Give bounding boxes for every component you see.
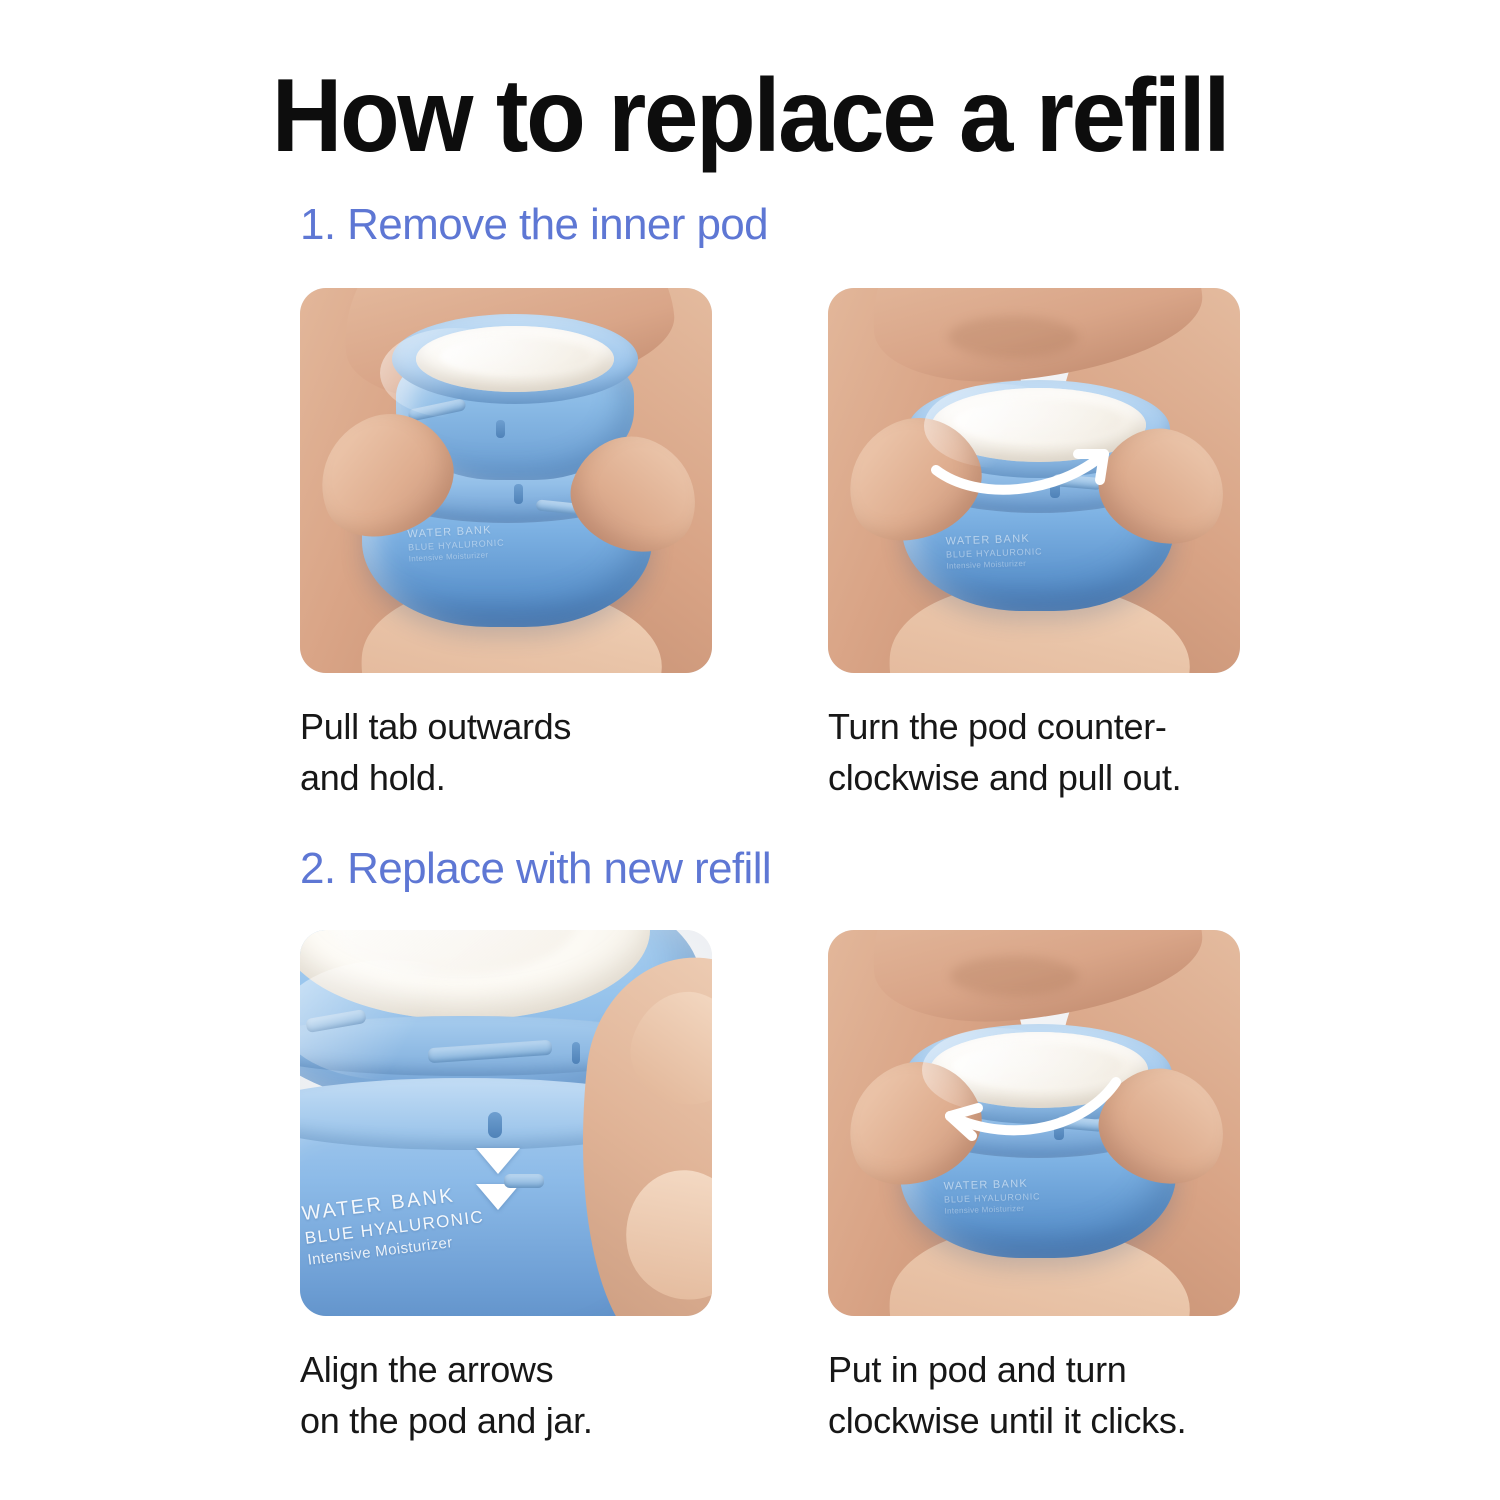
step-1-heading: 1. Remove the inner pod xyxy=(300,200,768,250)
caption-step-2-1: Align the arrows on the pod and jar. xyxy=(300,1344,712,1446)
clockwise-arrow-icon xyxy=(828,930,1240,1316)
photo-scene: WATER BANK BLUE HYALURONIC Intensive Moi… xyxy=(828,930,1240,1316)
pod-notch xyxy=(496,420,505,438)
cream-swirl xyxy=(440,338,590,374)
step-1-card-1: WATER BANK BLUE HYALURONIC Intensive Moi… xyxy=(300,288,712,803)
step-1-card-2: WATER BANK BLUE HYALURONIC Intensive Moi… xyxy=(828,288,1240,803)
photo-scene: WATER BANK BLUE HYALURONIC Intensive Moi… xyxy=(300,930,712,1316)
page-title: How to replace a refill xyxy=(45,58,1455,174)
step-2-card-2: WATER BANK BLUE HYALURONIC Intensive Moi… xyxy=(828,930,1240,1446)
caption-step-1-1: Pull tab outwards and hold. xyxy=(300,701,712,803)
photo-pull-tab: WATER BANK BLUE HYALURONIC Intensive Moi… xyxy=(300,288,712,673)
counter-clockwise-arrow-icon xyxy=(828,288,1240,673)
jar-tab xyxy=(504,1174,544,1188)
infographic-page: How to replace a refill 1. Remove the in… xyxy=(0,0,1500,1500)
photo-align-arrows: WATER BANK BLUE HYALURONIC Intensive Moi… xyxy=(300,930,712,1316)
jar-notch xyxy=(514,484,523,504)
alignment-triangle-upper-icon xyxy=(476,1148,520,1174)
pod-notch xyxy=(572,1042,580,1064)
jar-alignment-notch xyxy=(488,1112,502,1138)
caption-step-2-2: Put in pod and turn clockwise until it c… xyxy=(828,1344,1240,1446)
caption-step-1-2: Turn the pod counter- clockwise and pull… xyxy=(828,701,1240,803)
photo-turn-counterclockwise: WATER BANK BLUE HYALURONIC Intensive Moi… xyxy=(828,288,1240,673)
step-2-card-1: WATER BANK BLUE HYALURONIC Intensive Moi… xyxy=(300,930,712,1446)
photo-scene: WATER BANK BLUE HYALURONIC Intensive Moi… xyxy=(828,288,1240,673)
step-2-heading: 2. Replace with new refill xyxy=(300,844,771,894)
photo-turn-clockwise: WATER BANK BLUE HYALURONIC Intensive Moi… xyxy=(828,930,1240,1316)
photo-scene: WATER BANK BLUE HYALURONIC Intensive Moi… xyxy=(300,288,712,673)
